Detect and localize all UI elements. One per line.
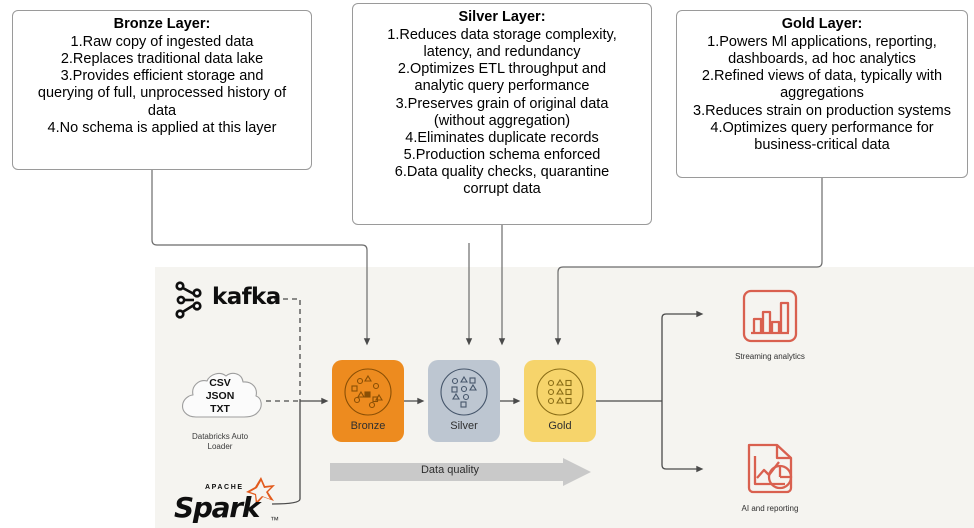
bronze-item-1: 1.Raw copy of ingested data <box>18 34 306 51</box>
silver-layer-description-box: Silver Layer: 1.Reduces data storage com… <box>352 3 652 225</box>
data-quality-arrow: Data quality <box>330 458 591 486</box>
auto-loader-line-2: Loader <box>208 442 233 451</box>
silver-item-6: 6.Data quality checks, quarantine <box>359 164 645 181</box>
silver-item-1: 1.Reduces data storage complexity, <box>359 27 645 44</box>
spark-tm-mark: ™ <box>270 515 279 525</box>
gold-item-4-cont: business-critical data <box>682 137 962 154</box>
apache-spark-source: APACHE Spark ™ <box>174 482 294 526</box>
gold-layer-title: Gold Layer: <box>682 16 962 33</box>
bronze-layer-title: Bronze Layer: <box>18 16 306 33</box>
gold-medallion-label: Gold <box>548 420 571 432</box>
bronze-item-4: 4.No schema is applied at this layer <box>18 120 306 137</box>
file-cloud-source: CSV JSON TXT <box>176 367 264 429</box>
bronze-medallion-node[interactable]: Bronze <box>332 360 404 442</box>
bronze-item-3: 3.Provides efficient storage and <box>18 68 306 85</box>
spark-label: Spark <box>174 491 259 524</box>
silver-medallion-label: Silver <box>450 420 478 432</box>
gold-item-2-cont: aggregations <box>682 85 962 102</box>
bar-chart-icon <box>741 288 799 344</box>
ai-and-reporting-output[interactable]: AI and reporting <box>710 440 830 513</box>
databricks-auto-loader-caption: Databricks Auto Loader <box>168 432 272 453</box>
gold-medallion-node[interactable]: Gold <box>524 360 596 442</box>
silver-item-2-cont: analytic query performance <box>359 78 645 95</box>
gold-shapes-icon <box>535 367 585 417</box>
silver-item-2: 2.Optimizes ETL throughput and <box>359 61 645 78</box>
bronze-item-2: 2.Replaces traditional data lake <box>18 51 306 68</box>
format-json: JSON <box>206 390 235 402</box>
silver-item-3-cont: (without aggregation) <box>359 113 645 130</box>
silver-medallion-node[interactable]: Silver <box>428 360 500 442</box>
silver-item-3: 3.Preserves grain of original data <box>359 96 645 113</box>
streaming-analytics-output[interactable]: Streaming analytics <box>710 288 830 361</box>
bronze-item-3-cont: querying of full, unprocessed history of <box>18 85 306 102</box>
gold-item-2: 2.Refined views of data, typically with <box>682 68 962 85</box>
gold-item-1-cont: dashboards, ad hoc analytics <box>682 51 962 68</box>
gold-layer-description-box: Gold Layer: 1.Powers Ml applications, re… <box>676 10 968 178</box>
format-csv: CSV <box>209 377 231 389</box>
silver-item-5: 5.Production schema enforced <box>359 147 645 164</box>
ai-and-reporting-label: AI and reporting <box>710 504 830 513</box>
silver-layer-title: Silver Layer: <box>359 9 645 26</box>
kafka-label: kafka <box>212 284 281 310</box>
auto-loader-line-1: Databricks Auto <box>192 432 248 441</box>
bronze-medallion-label: Bronze <box>351 420 386 432</box>
gold-item-1: 1.Powers Ml applications, reporting, <box>682 34 962 51</box>
silver-item-1-cont: latency, and redundancy <box>359 44 645 61</box>
format-txt: TXT <box>210 403 230 415</box>
data-quality-label: Data quality <box>330 464 570 476</box>
silver-item-4: 4.Eliminates duplicate records <box>359 130 645 147</box>
bronze-shapes-icon <box>343 367 393 417</box>
gold-item-4: 4.Optimizes query performance for <box>682 120 962 137</box>
diagram-canvas: Bronze Layer: 1.Raw copy of ingested dat… <box>0 0 974 528</box>
silver-shapes-icon <box>439 367 489 417</box>
kafka-source: kafka <box>172 279 292 321</box>
bronze-layer-description-box: Bronze Layer: 1.Raw copy of ingested dat… <box>12 10 312 170</box>
kafka-icon <box>172 279 210 321</box>
gold-item-3: 3.Reduces strain on production systems <box>682 103 962 120</box>
document-analytics-icon <box>741 440 799 496</box>
silver-item-6-cont: corrupt data <box>359 181 645 198</box>
cloud-file-formats: CSV JSON TXT <box>176 377 264 415</box>
apache-label: APACHE <box>205 484 244 491</box>
bronze-item-3-cont2: data <box>18 103 306 120</box>
streaming-analytics-label: Streaming analytics <box>710 352 830 361</box>
